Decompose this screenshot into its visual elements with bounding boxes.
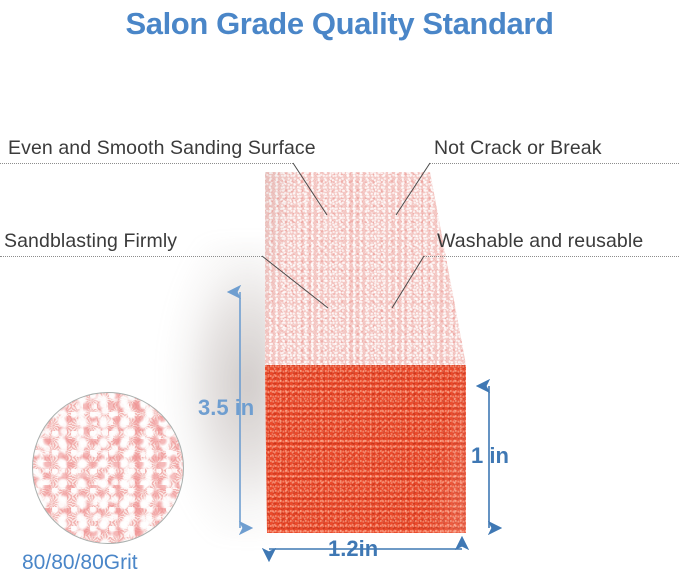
- grit-label: 80/80/80Grit: [22, 550, 138, 576]
- block-shading-overlay: [255, 165, 480, 540]
- feature-rule-mid-right: [424, 256, 679, 257]
- feature-label-sandblasting-firmly: Sandblasting Firmly: [4, 229, 177, 253]
- grit-sample-circle: [32, 392, 184, 544]
- dimension-label-depth: 1 in: [471, 443, 509, 469]
- infographic-canvas: Salon Grade Quality Standard Even and Sm…: [0, 0, 679, 579]
- dimension-label-height: 3.5 in: [198, 395, 254, 421]
- feature-label-washable-and-reusable: Washable and reusable: [437, 229, 643, 253]
- feature-rule-top-right: [430, 163, 679, 164]
- dimension-label-width: 1.2in: [328, 536, 378, 562]
- feature-label-not-crack-or-break: Not Crack or Break: [434, 136, 602, 160]
- feature-label-even-smooth-sanding-surface: Even and Smooth Sanding Surface: [8, 136, 316, 160]
- feature-rule-top-left: [0, 163, 293, 164]
- sanding-block-image: [255, 165, 480, 540]
- feature-rule-mid-left: [0, 256, 262, 257]
- page-title: Salon Grade Quality Standard: [0, 4, 679, 44]
